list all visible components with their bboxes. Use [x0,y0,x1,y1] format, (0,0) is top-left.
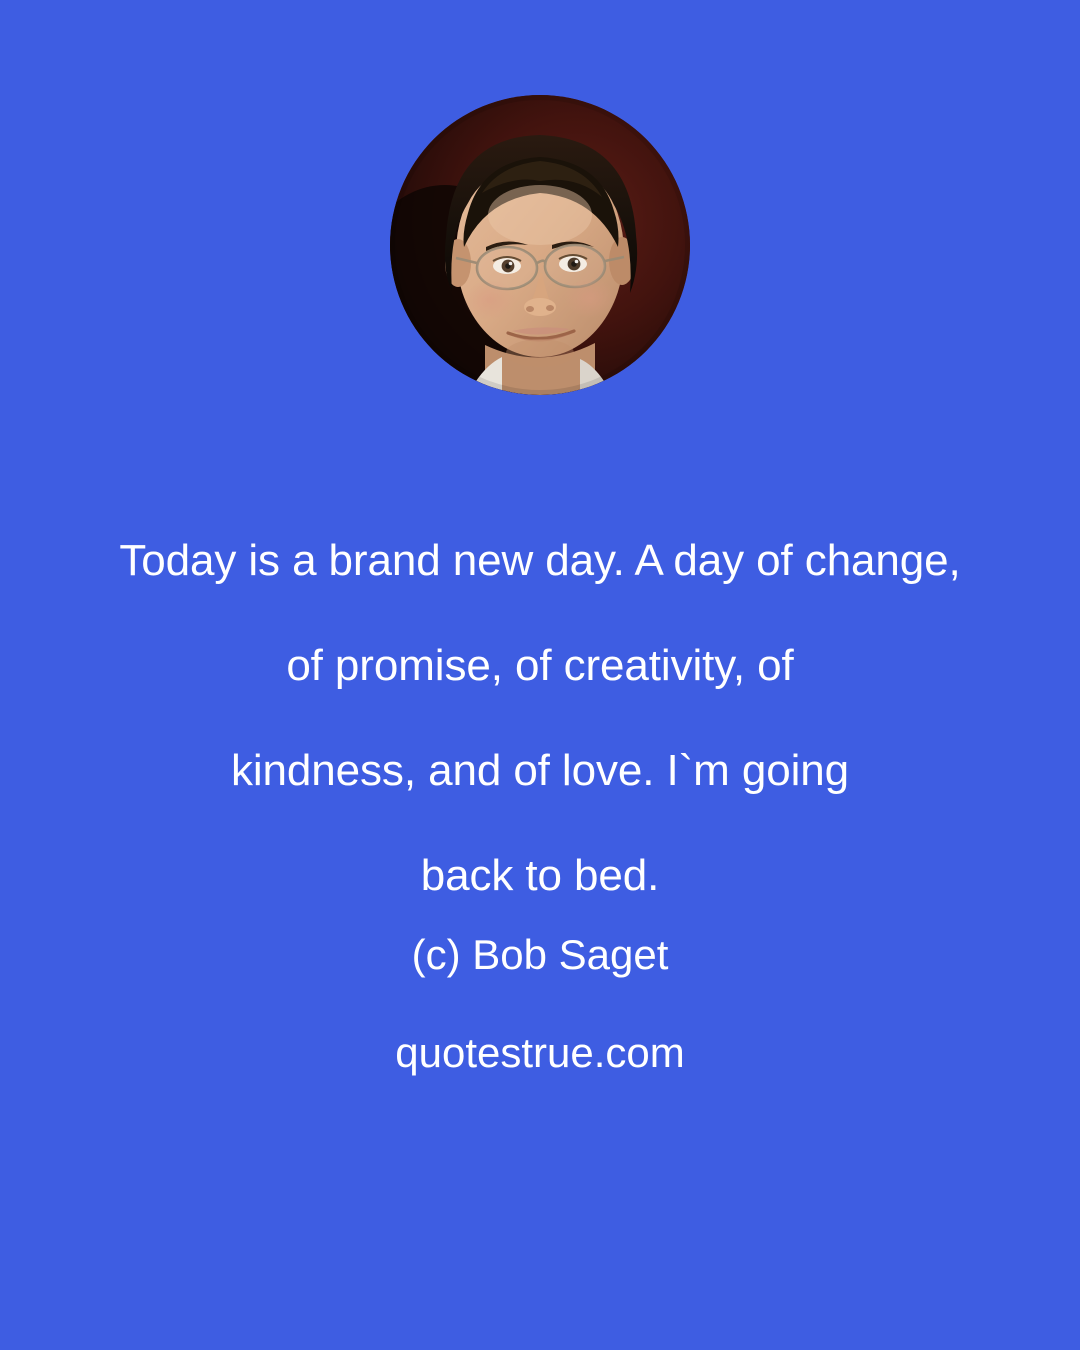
quote-card: Today is a brand new day. A day of chang… [0,0,1080,1350]
quote-author: (c) Bob Saget [0,928,1080,982]
avatar [390,95,690,395]
quote-line: back to bed. [0,823,1080,928]
quote-line: kindness, and of love. I`m going [0,718,1080,823]
portrait-photo [390,95,690,395]
source-website: quotestrue.com [0,1026,1080,1080]
quote-text: Today is a brand new day. A day of chang… [0,508,1080,928]
quote-line: of promise, of creativity, of [0,613,1080,718]
quote-line: Today is a brand new day. A day of chang… [0,508,1080,613]
